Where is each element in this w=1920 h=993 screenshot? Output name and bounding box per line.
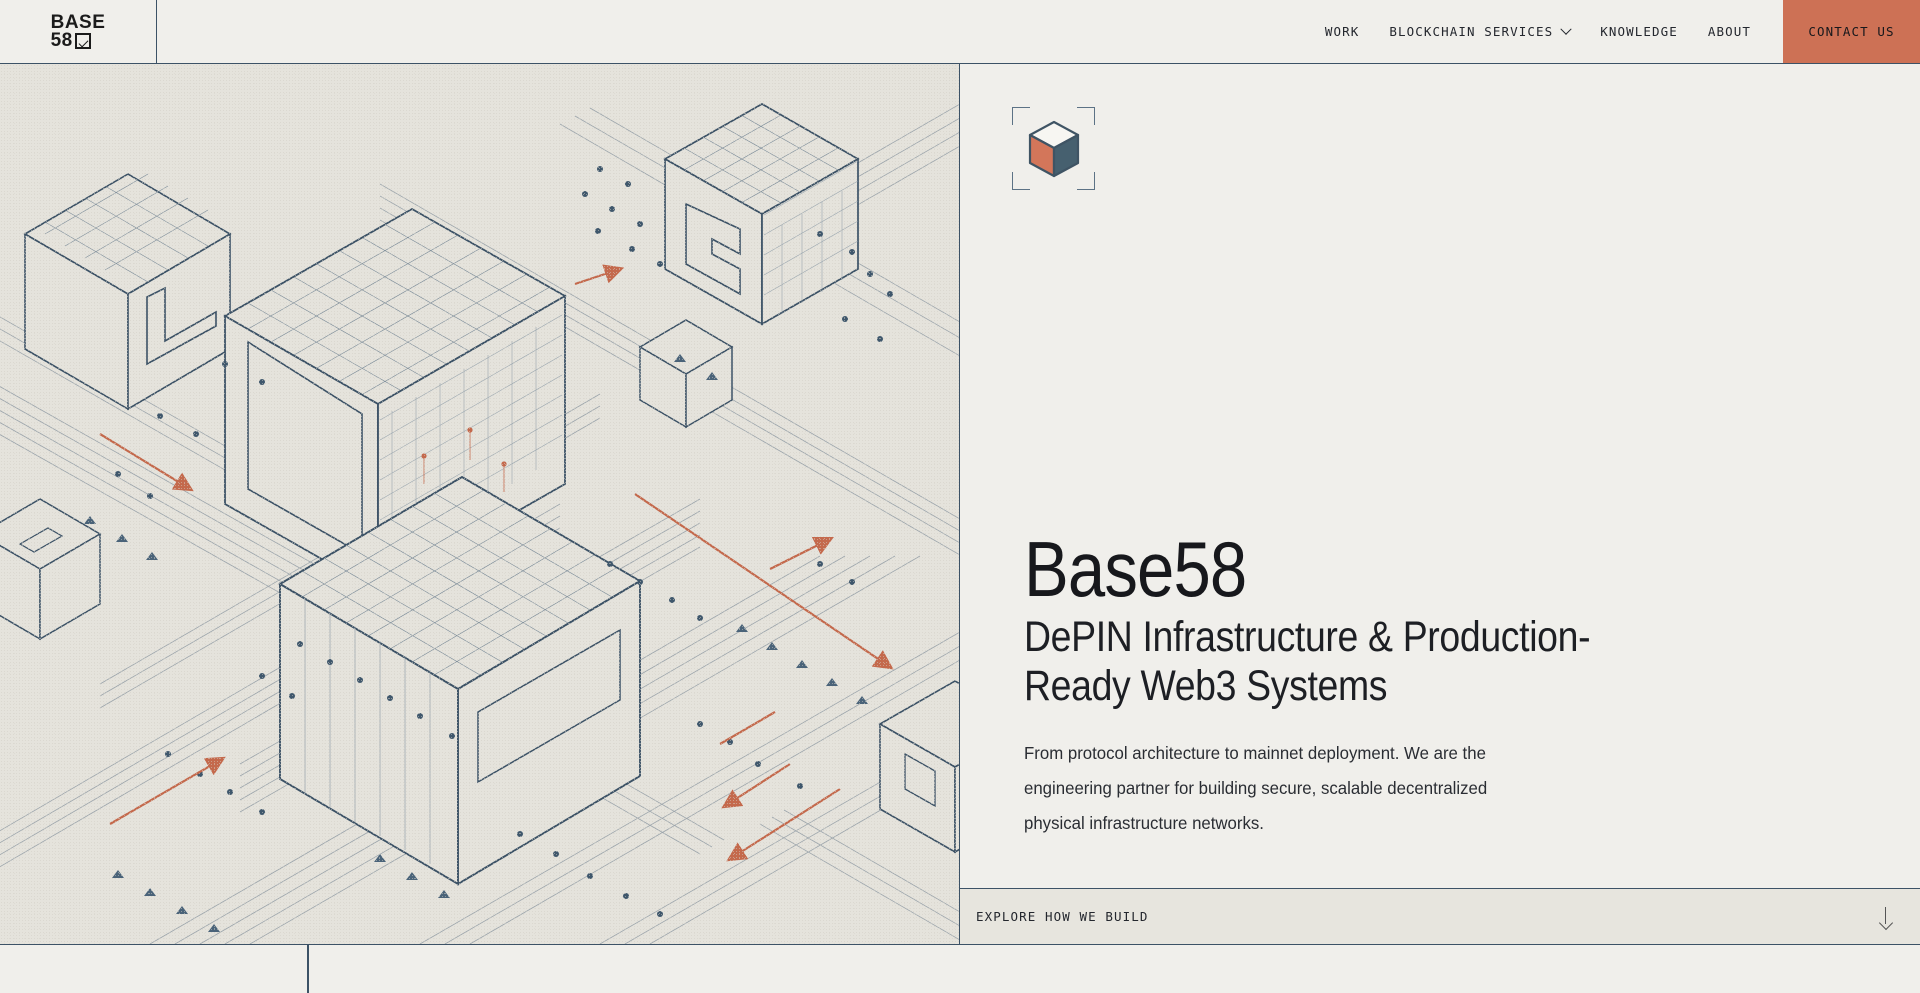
nav-about-label: ABOUT bbox=[1708, 24, 1751, 39]
nav-work[interactable]: WORK bbox=[1325, 24, 1360, 39]
nav-blockchain-services-label: BLOCKCHAIN SERVICES bbox=[1389, 24, 1553, 39]
hero-section: Base58 DePIN Infrastructure & Production… bbox=[0, 64, 1920, 944]
nav-about[interactable]: ABOUT bbox=[1708, 24, 1751, 39]
arrow-down-icon bbox=[1879, 907, 1892, 927]
nav-blockchain-services[interactable]: BLOCKCHAIN SERVICES bbox=[1389, 24, 1570, 39]
page-root: BASE 58 WORK BLOCKCHAIN SERVICES KNOWLED… bbox=[0, 0, 1920, 993]
logo[interactable]: BASE 58 bbox=[0, 0, 157, 63]
contact-us-label: CONTACT US bbox=[1808, 24, 1894, 39]
hero-description: From protocol architecture to mainnet de… bbox=[1024, 736, 1504, 841]
hero-illustration bbox=[0, 64, 960, 944]
page-subtitle: DePIN Infrastructure & Production-Ready … bbox=[1024, 613, 1630, 711]
nav-links: WORK BLOCKCHAIN SERVICES KNOWLEDGE ABOUT bbox=[1325, 24, 1783, 39]
hero-copy: Base58 DePIN Infrastructure & Production… bbox=[960, 534, 1720, 841]
isometric-cube-icon bbox=[1027, 120, 1081, 178]
explore-how-we-build-button[interactable]: EXPLORE HOW WE BUILD bbox=[960, 888, 1920, 944]
footer-divider bbox=[307, 945, 309, 993]
logo-line-1: BASE bbox=[51, 14, 106, 32]
explore-label: EXPLORE HOW WE BUILD bbox=[976, 909, 1149, 924]
logo-line-2-text: 58 bbox=[51, 32, 73, 50]
nav-knowledge[interactable]: KNOWLEDGE bbox=[1600, 24, 1678, 39]
contact-us-button[interactable]: CONTACT US bbox=[1783, 0, 1920, 63]
nav-work-label: WORK bbox=[1325, 24, 1360, 39]
checkbox-check-icon bbox=[75, 33, 91, 49]
page-title: Base58 bbox=[1024, 534, 1623, 606]
footer-strip bbox=[0, 944, 1920, 993]
primary-nav: WORK BLOCKCHAIN SERVICES KNOWLEDGE ABOUT… bbox=[157, 0, 1920, 63]
isometric-network-illustration bbox=[0, 64, 960, 944]
logo-wordmark: BASE 58 bbox=[51, 14, 106, 50]
chevron-down-icon bbox=[1561, 23, 1572, 34]
isometric-cube-badge bbox=[1012, 107, 1095, 190]
hero-content: Base58 DePIN Infrastructure & Production… bbox=[960, 64, 1920, 944]
site-header: BASE 58 WORK BLOCKCHAIN SERVICES KNOWLED… bbox=[0, 0, 1920, 64]
logo-line-2: 58 bbox=[51, 32, 91, 50]
nav-knowledge-label: KNOWLEDGE bbox=[1600, 24, 1678, 39]
